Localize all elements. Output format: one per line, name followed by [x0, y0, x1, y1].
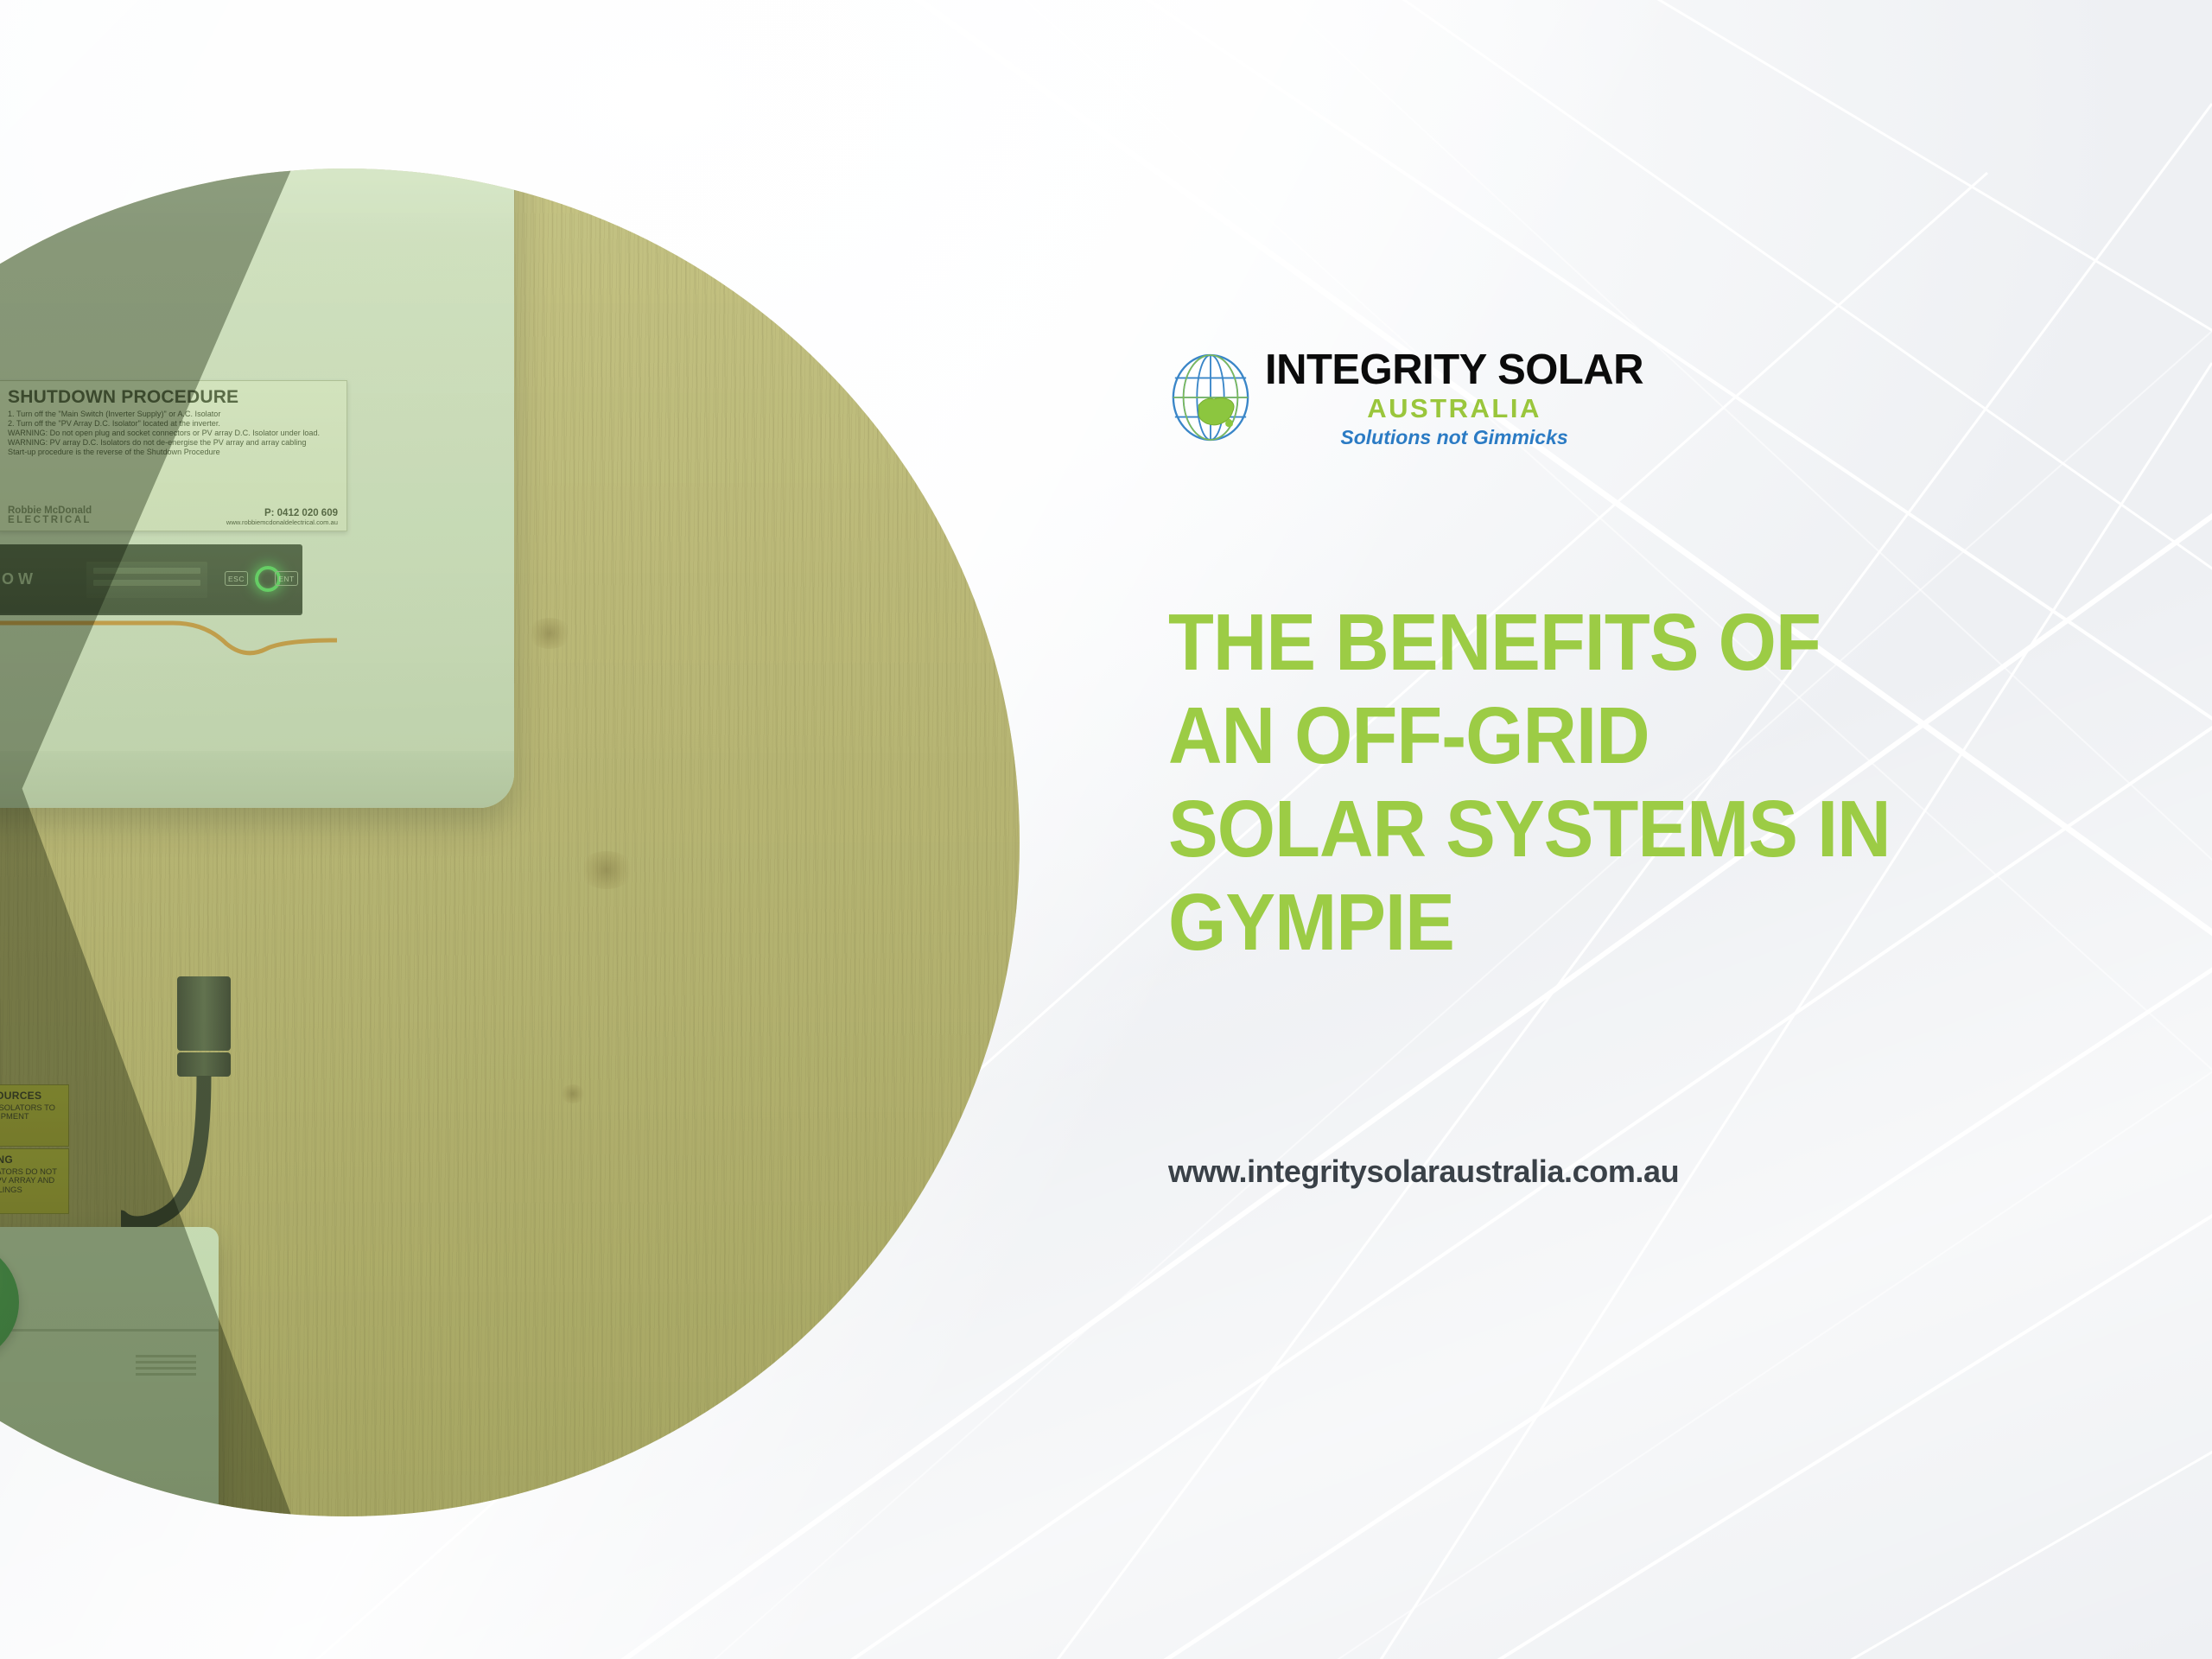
website-url[interactable]: www.integritysolaraustralia.com.au [1168, 1154, 1679, 1190]
logo-name-secondary: AUSTRALIA [1265, 391, 1643, 426]
headline-line-2: AN OFF-GRID [1168, 690, 2101, 783]
globe-icon [1168, 353, 1253, 442]
company-logo[interactable]: INTEGRITY SOLAR AUSTRALIA Solutions not … [1168, 346, 1643, 450]
headline-line-3: SOLAR SYSTEMS IN [1168, 783, 2101, 876]
headline-line-1: THE BENEFITS OF [1168, 596, 2101, 690]
inverter-photo: SHUTDOWN PROCEDURE 1. Turn off the "Main… [0, 168, 1020, 1516]
page-title: THE BENEFITS OF AN OFF-GRID SOLAR SYSTEM… [1168, 596, 2101, 969]
logo-tagline: Solutions not Gimmicks [1265, 426, 1643, 450]
marketing-banner: SHUTDOWN PROCEDURE 1. Turn off the "Main… [0, 0, 2212, 1659]
logo-name-primary: INTEGRITY SOLAR [1265, 349, 1643, 391]
content-column: INTEGRITY SOLAR AUSTRALIA Solutions not … [1168, 0, 2171, 1659]
headline-line-4: GYMPIE [1168, 876, 2101, 969]
